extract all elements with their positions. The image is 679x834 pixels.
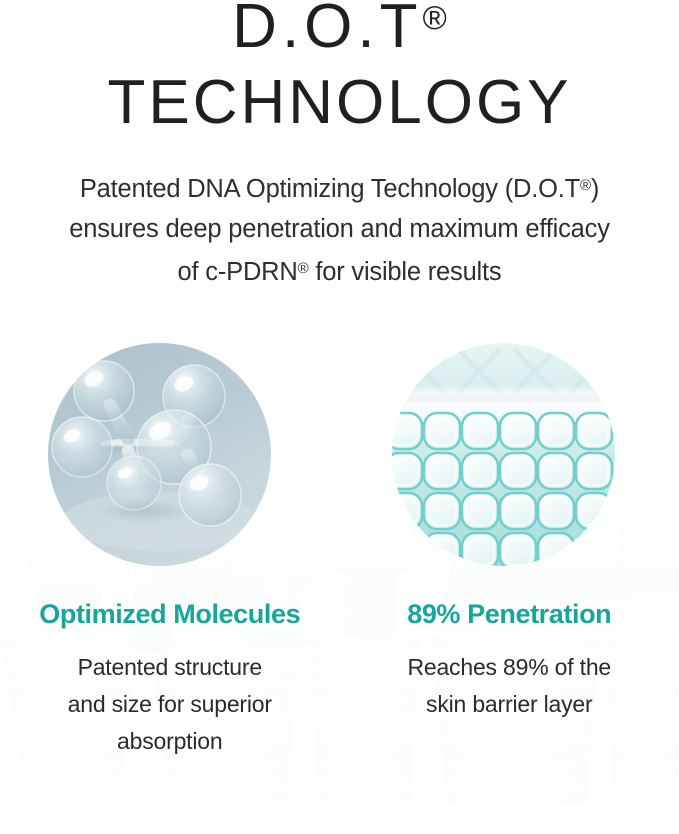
page-title-line1-text: D.O.T [232, 0, 422, 61]
intro-line-3-a: of c-PDRN [178, 258, 298, 286]
feature-penetration: 89% Penetration Reaches 89% of the skin … [340, 598, 679, 760]
feature-description: Reaches 89% of the skin barrier layer [340, 649, 679, 723]
dot-technology-infographic: D.O.T® TECHNOLOGY Patented DNA Optimizin… [0, 0, 679, 834]
intro-line-1-a: Patented DNA Optimizing Technology (D.O.… [80, 175, 580, 203]
intro-paragraph: Patented DNA Optimizing Technology (D.O.… [34, 166, 645, 292]
feature-images-row [0, 343, 679, 568]
intro-line-3: of c-PDRN® for visible results [34, 249, 645, 292]
registered-mark-icon: ® [423, 0, 447, 36]
intro-line-1: Patented DNA Optimizing Technology (D.O.… [34, 166, 645, 209]
intro-line-3-b: for visible results [308, 258, 501, 286]
feature-title: Optimized Molecules [0, 598, 340, 632]
page-title: D.O.T® TECHNOLOGY [0, 0, 679, 138]
feature-description: Patented structure and size for superior… [0, 649, 340, 760]
page-title-line1: D.O.T® [0, 0, 679, 61]
skin-barrier-circle-image [392, 343, 615, 566]
feature-description-line: skin barrier layer [340, 686, 679, 723]
feature-description-line: Reaches 89% of the [340, 649, 679, 686]
intro-line-2: ensures deep penetration and maximum eff… [34, 209, 645, 249]
feature-title: 89% Penetration [340, 598, 679, 632]
intro-line-1-b: ) [591, 175, 599, 203]
feature-description-line: absorption [0, 723, 340, 760]
feature-description-line: Patented structure [0, 649, 340, 686]
feature-optimized-molecules: Optimized Molecules Patented structure a… [0, 598, 340, 760]
features-row: Optimized Molecules Patented structure a… [0, 598, 679, 760]
page-title-line2: TECHNOLOGY [0, 67, 679, 138]
molecule-circle-image [48, 343, 271, 566]
feature-description-line: and size for superior [0, 686, 340, 723]
registered-mark-icon: ® [298, 260, 309, 277]
registered-mark-icon: ® [580, 177, 591, 194]
